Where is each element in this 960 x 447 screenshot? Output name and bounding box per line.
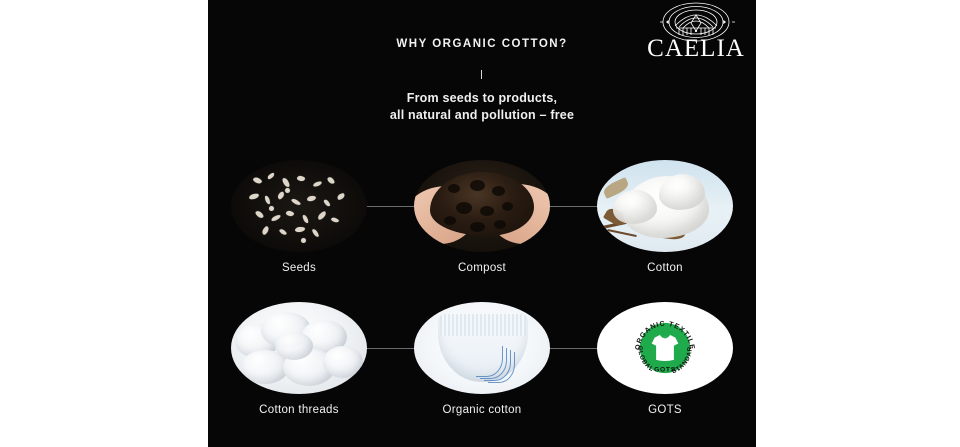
node-label: GOTS <box>592 404 738 416</box>
flow-node-gots[interactable]: ORGANIC TEXTILE GLOBAL STANDARD · GOTS · <box>592 302 738 416</box>
node-label: Cotton <box>592 262 738 274</box>
screenshot-root: WHY ORGANIC COTTON? From seeds to produc… <box>0 0 960 447</box>
node-label: Seeds <box>226 262 372 274</box>
brand-logo: CAELIA <box>642 2 750 68</box>
node-label: Cotton threads <box>226 404 372 416</box>
subtitle-line-1: From seeds to products, <box>407 91 557 105</box>
flow-node-cotton[interactable]: Cotton <box>592 160 738 274</box>
node-label: Compost <box>409 262 555 274</box>
flow-node-cotton-threads[interactable]: Cotton threads <box>226 302 372 416</box>
flow-node-compost[interactable]: Compost <box>409 160 555 274</box>
svg-text:· GOTS ·: · GOTS · <box>649 367 682 374</box>
brand-wordmark: CAELIA <box>642 35 750 63</box>
subtitle-line-2: all natural and pollution – free <box>208 107 756 124</box>
organic-cotton-garment-photo <box>414 302 550 394</box>
flow-node-seeds[interactable]: Seeds <box>226 160 372 274</box>
gots-certification-logo: ORGANIC TEXTILE GLOBAL STANDARD · GOTS · <box>597 302 733 394</box>
title-divider <box>481 70 482 79</box>
gots-badge-icon: ORGANIC TEXTILE GLOBAL STANDARD · GOTS · <box>628 311 702 385</box>
flow-row-1: Seeds <box>208 160 756 280</box>
flow-row-2: Cotton threads Organic cotton <box>208 302 756 422</box>
hands-holding-compost-photo <box>414 160 550 252</box>
node-label: Organic cotton <box>409 404 555 416</box>
cotton-boll-photo <box>597 160 733 252</box>
infographic-poster: WHY ORGANIC COTTON? From seeds to produc… <box>208 0 756 447</box>
cotton-threads-photo <box>231 302 367 394</box>
cotton-seeds-photo <box>231 160 367 252</box>
flow-node-organic-cotton[interactable]: Organic cotton <box>409 302 555 416</box>
page-subtitle: From seeds to products, all natural and … <box>208 90 756 124</box>
